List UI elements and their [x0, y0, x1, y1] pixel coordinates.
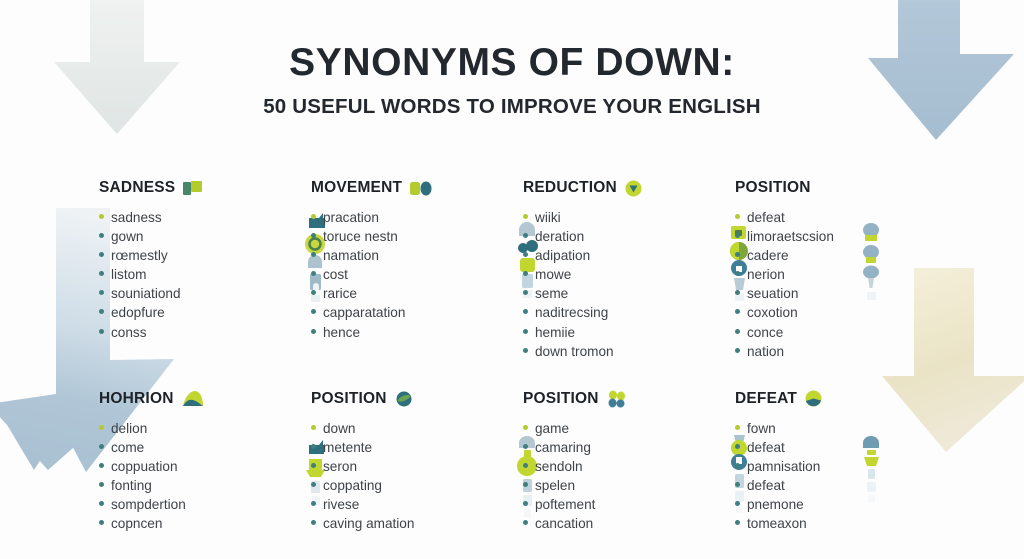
word-label: toruce nestn — [323, 227, 398, 246]
word-label: gown — [111, 227, 144, 246]
page-title: SYNONYMS OF DOWN: — [0, 42, 1024, 84]
infographic-canvas: SYNONYMS OF DOWN: 50 USEFUL WORDS TO IMP… — [0, 0, 1024, 559]
bullet-icon — [311, 290, 316, 295]
word-label: naditrecsing — [535, 303, 608, 322]
category-group-movement: MOVEMENT pracation toruce nestn namation… — [311, 178, 523, 361]
category-group-defeat: DEFEAT fown defeat pamnisation defeat pn… — [735, 389, 947, 534]
bullet-icon — [735, 520, 740, 525]
word-label: limoraetscsion — [747, 227, 834, 246]
word-label: camaring — [535, 438, 591, 457]
bullet-icon — [311, 501, 316, 506]
bullet-icon — [99, 233, 104, 238]
list-item: seron — [311, 457, 523, 476]
bullet-icon — [523, 271, 528, 276]
word-label: rivese — [323, 495, 359, 514]
category-group-position-flower: POSITION game camaring sendoln spe — [523, 389, 735, 534]
group-header: HOHRION — [99, 389, 311, 409]
list-item: seuation — [735, 284, 947, 303]
group-header: POSITION — [735, 178, 947, 198]
word-label: adipation — [535, 246, 590, 265]
word-label: capparatation — [323, 303, 405, 322]
bullet-icon — [99, 444, 104, 449]
word-label: metente — [323, 438, 372, 457]
word-label: nation — [747, 342, 784, 361]
bullet-icon — [99, 329, 104, 334]
bullet-icon — [735, 329, 740, 334]
word-label: edopfure — [111, 303, 165, 322]
word-label: listom — [111, 265, 147, 284]
list-item: down tromon — [523, 342, 735, 361]
bullet-icon — [311, 463, 316, 468]
word-label: coppuation — [111, 457, 178, 476]
list-item: conss — [99, 323, 311, 342]
list-item: limoraetscsion — [735, 227, 947, 246]
bullet-icon — [311, 520, 316, 525]
group-header: POSITION — [523, 389, 735, 409]
word-label: cadere — [747, 246, 789, 265]
bullet-icon — [99, 482, 104, 487]
list-item: gown — [99, 227, 311, 246]
circle-check-icon — [625, 180, 642, 197]
bullet-icon — [735, 425, 740, 430]
word-label: spelen — [535, 476, 575, 495]
bullet-icon — [523, 348, 528, 353]
list-item: rœmestly — [99, 246, 311, 265]
word-list: down metente seron coppating rivese cavi… — [311, 419, 523, 534]
page-subtitle: 50 USEFUL WORDS TO IMPROVE YOUR ENGLISH — [0, 95, 1024, 119]
list-item: come — [99, 438, 311, 457]
word-label: fonting — [111, 476, 152, 495]
two-squares-icon — [183, 181, 202, 196]
category-row-bottom: HOHRION delion come coppuation fonting s… — [99, 389, 979, 534]
list-item: coppating — [311, 476, 523, 495]
list-item: poftement — [523, 495, 735, 514]
word-label: souniationd — [111, 284, 181, 303]
list-item: hence — [311, 323, 523, 342]
bullet-icon — [735, 348, 740, 353]
bullet-icon — [311, 425, 316, 430]
list-item: adipation — [523, 246, 735, 265]
category-group-hohrion: HOHRION delion come coppuation fonting s… — [99, 389, 311, 534]
word-label: coppating — [323, 476, 382, 495]
word-label: nerion — [747, 265, 785, 284]
list-item: down — [311, 419, 523, 438]
mountain-icon — [182, 391, 204, 407]
list-item: nerion — [735, 265, 947, 284]
word-label: namation — [323, 246, 379, 265]
list-item: sompdertion — [99, 495, 311, 514]
bullet-icon — [523, 233, 528, 238]
bullet-icon — [311, 271, 316, 276]
list-item: cadere — [735, 246, 947, 265]
word-label: conss — [111, 323, 147, 342]
rect-and-oval-icon — [410, 181, 432, 196]
word-list: wiiki deration adipation mowe seme nadit… — [523, 208, 735, 361]
list-item: seme — [523, 284, 735, 303]
list-item: copncen — [99, 514, 311, 533]
bullet-icon — [523, 520, 528, 525]
word-list: pracation toruce nestn namation cost rar… — [311, 208, 523, 342]
list-item: spelen — [523, 476, 735, 495]
list-item: defeat — [735, 438, 947, 457]
word-label: cancation — [535, 514, 593, 533]
bullet-icon — [523, 252, 528, 257]
bullet-icon — [99, 309, 104, 314]
bullet-icon — [523, 214, 528, 219]
list-item: sendoln — [523, 457, 735, 476]
list-item: caving amation — [311, 514, 523, 533]
word-label: copncen — [111, 514, 162, 533]
bullet-icon — [99, 214, 104, 219]
category-grid: SADNESS sadness gown rœmestly listom sou… — [99, 178, 979, 533]
group-title: POSITION — [311, 390, 387, 408]
bullet-icon — [735, 482, 740, 487]
word-label: defeat — [747, 476, 785, 495]
word-label: hence — [323, 323, 360, 342]
list-item: cost — [311, 265, 523, 284]
list-item: sadness — [99, 208, 311, 227]
group-header: POSITION — [311, 389, 523, 409]
word-label: rœmestly — [111, 246, 168, 265]
bullet-icon — [99, 290, 104, 295]
category-group-reduction: REDUCTION wiiki deration adipation mowe … — [523, 178, 735, 361]
category-group-position-top: POSITION defeat limoraetscsion cadere ne… — [735, 178, 947, 361]
word-label: sadness — [111, 208, 162, 227]
word-label: deration — [535, 227, 584, 246]
bullet-icon — [311, 309, 316, 314]
word-list: fown defeat pamnisation defeat pnemone t… — [735, 419, 947, 534]
list-item: conce — [735, 323, 947, 342]
word-label: delion — [111, 419, 147, 438]
list-item: fown — [735, 419, 947, 438]
word-label: seuation — [747, 284, 798, 303]
word-label: down tromon — [535, 342, 614, 361]
list-item: fonting — [99, 476, 311, 495]
word-label: tomeaxon — [747, 514, 807, 533]
bullet-icon — [735, 271, 740, 276]
bullet-icon — [523, 290, 528, 295]
list-item: tomeaxon — [735, 514, 947, 533]
bullet-icon — [99, 501, 104, 506]
bullet-icon — [523, 425, 528, 430]
list-item: toruce nestn — [311, 227, 523, 246]
bullet-icon — [735, 252, 740, 257]
list-item: defeat — [735, 476, 947, 495]
bullet-icon — [735, 501, 740, 506]
bullet-icon — [311, 233, 316, 238]
list-item: coppuation — [99, 457, 311, 476]
group-title: SADNESS — [99, 179, 175, 197]
word-label: defeat — [747, 208, 785, 227]
bullet-icon — [735, 290, 740, 295]
list-item: game — [523, 419, 735, 438]
list-item: souniationd — [99, 284, 311, 303]
word-label: down — [323, 419, 356, 438]
list-item: listom — [99, 265, 311, 284]
bullet-icon — [735, 444, 740, 449]
bullet-icon — [523, 463, 528, 468]
list-item: rivese — [311, 495, 523, 514]
word-label: hemiie — [535, 323, 575, 342]
bullet-icon — [311, 252, 316, 257]
word-label: sendoln — [535, 457, 583, 476]
list-item: delion — [99, 419, 311, 438]
word-label: coxotion — [747, 303, 798, 322]
word-label: mowe — [535, 265, 571, 284]
bullet-icon — [523, 309, 528, 314]
word-label: pracation — [323, 208, 379, 227]
bullet-icon — [99, 520, 104, 525]
list-item: camaring — [523, 438, 735, 457]
bullet-icon — [99, 271, 104, 276]
word-list: game camaring sendoln spelen poftement c… — [523, 419, 735, 534]
bullet-icon — [523, 482, 528, 487]
list-item: nation — [735, 342, 947, 361]
list-item: rarice — [311, 284, 523, 303]
bullet-icon — [99, 463, 104, 468]
word-label: fown — [747, 419, 776, 438]
list-item: defeat — [735, 208, 947, 227]
word-label: pamnisation — [747, 457, 820, 476]
word-label: defeat — [747, 438, 785, 457]
list-item: deration — [523, 227, 735, 246]
word-label: sompdertion — [111, 495, 186, 514]
list-item: pracation — [311, 208, 523, 227]
bullet-icon — [523, 329, 528, 334]
leaf-circle-icon — [395, 391, 413, 407]
word-list: delion come coppuation fonting sompderti… — [99, 419, 311, 534]
bullet-icon — [99, 252, 104, 257]
word-label: pnemone — [747, 495, 804, 514]
word-label: cost — [323, 265, 348, 284]
bullet-icon — [735, 463, 740, 468]
list-item: mowe — [523, 265, 735, 284]
list-item: wiiki — [523, 208, 735, 227]
group-header: MOVEMENT — [311, 178, 523, 198]
word-label: seron — [323, 457, 357, 476]
category-group-position-leaf: POSITION down metente seron coppating ri… — [311, 389, 523, 534]
group-title: POSITION — [523, 390, 599, 408]
group-header: DEFEAT — [735, 389, 947, 409]
word-label: conce — [747, 323, 783, 342]
list-item: edopfure — [99, 303, 311, 322]
group-header: SADNESS — [99, 178, 311, 198]
bullet-icon — [735, 233, 740, 238]
category-row-top: SADNESS sadness gown rœmestly listom sou… — [99, 178, 979, 361]
list-item: namation — [311, 246, 523, 265]
bullet-icon — [523, 444, 528, 449]
word-label: poftement — [535, 495, 595, 514]
group-title: POSITION — [735, 179, 811, 197]
header: SYNONYMS OF DOWN: 50 USEFUL WORDS TO IMP… — [0, 42, 1024, 119]
group-header: REDUCTION — [523, 178, 735, 198]
bullet-icon — [735, 309, 740, 314]
bullet-icon — [311, 444, 316, 449]
list-item: naditrecsing — [523, 303, 735, 322]
word-label: wiiki — [535, 208, 561, 227]
pie-circle-icon — [805, 390, 822, 407]
word-label: rarice — [323, 284, 357, 303]
bullet-icon — [311, 482, 316, 487]
category-group-sadness: SADNESS sadness gown rœmestly listom sou… — [99, 178, 311, 361]
flower-icon — [607, 390, 627, 408]
word-label: caving amation — [323, 514, 414, 533]
bullet-icon — [311, 329, 316, 334]
group-title: MOVEMENT — [311, 179, 402, 197]
list-item: coxotion — [735, 303, 947, 322]
bullet-icon — [311, 214, 316, 219]
group-title: REDUCTION — [523, 179, 617, 197]
bullet-icon — [523, 501, 528, 506]
bullet-icon — [99, 425, 104, 430]
list-item: cancation — [523, 514, 735, 533]
list-item: capparatation — [311, 303, 523, 322]
list-item: pamnisation — [735, 457, 947, 476]
word-label: seme — [535, 284, 568, 303]
word-label: game — [535, 419, 569, 438]
word-label: come — [111, 438, 144, 457]
list-item: hemiie — [523, 323, 735, 342]
bullet-icon — [735, 214, 740, 219]
list-item: pnemone — [735, 495, 947, 514]
word-list: sadness gown rœmestly listom souniationd… — [99, 208, 311, 342]
group-title: HOHRION — [99, 390, 174, 408]
group-title: DEFEAT — [735, 390, 797, 408]
list-item: metente — [311, 438, 523, 457]
word-list: defeat limoraetscsion cadere nerion seua… — [735, 208, 947, 361]
